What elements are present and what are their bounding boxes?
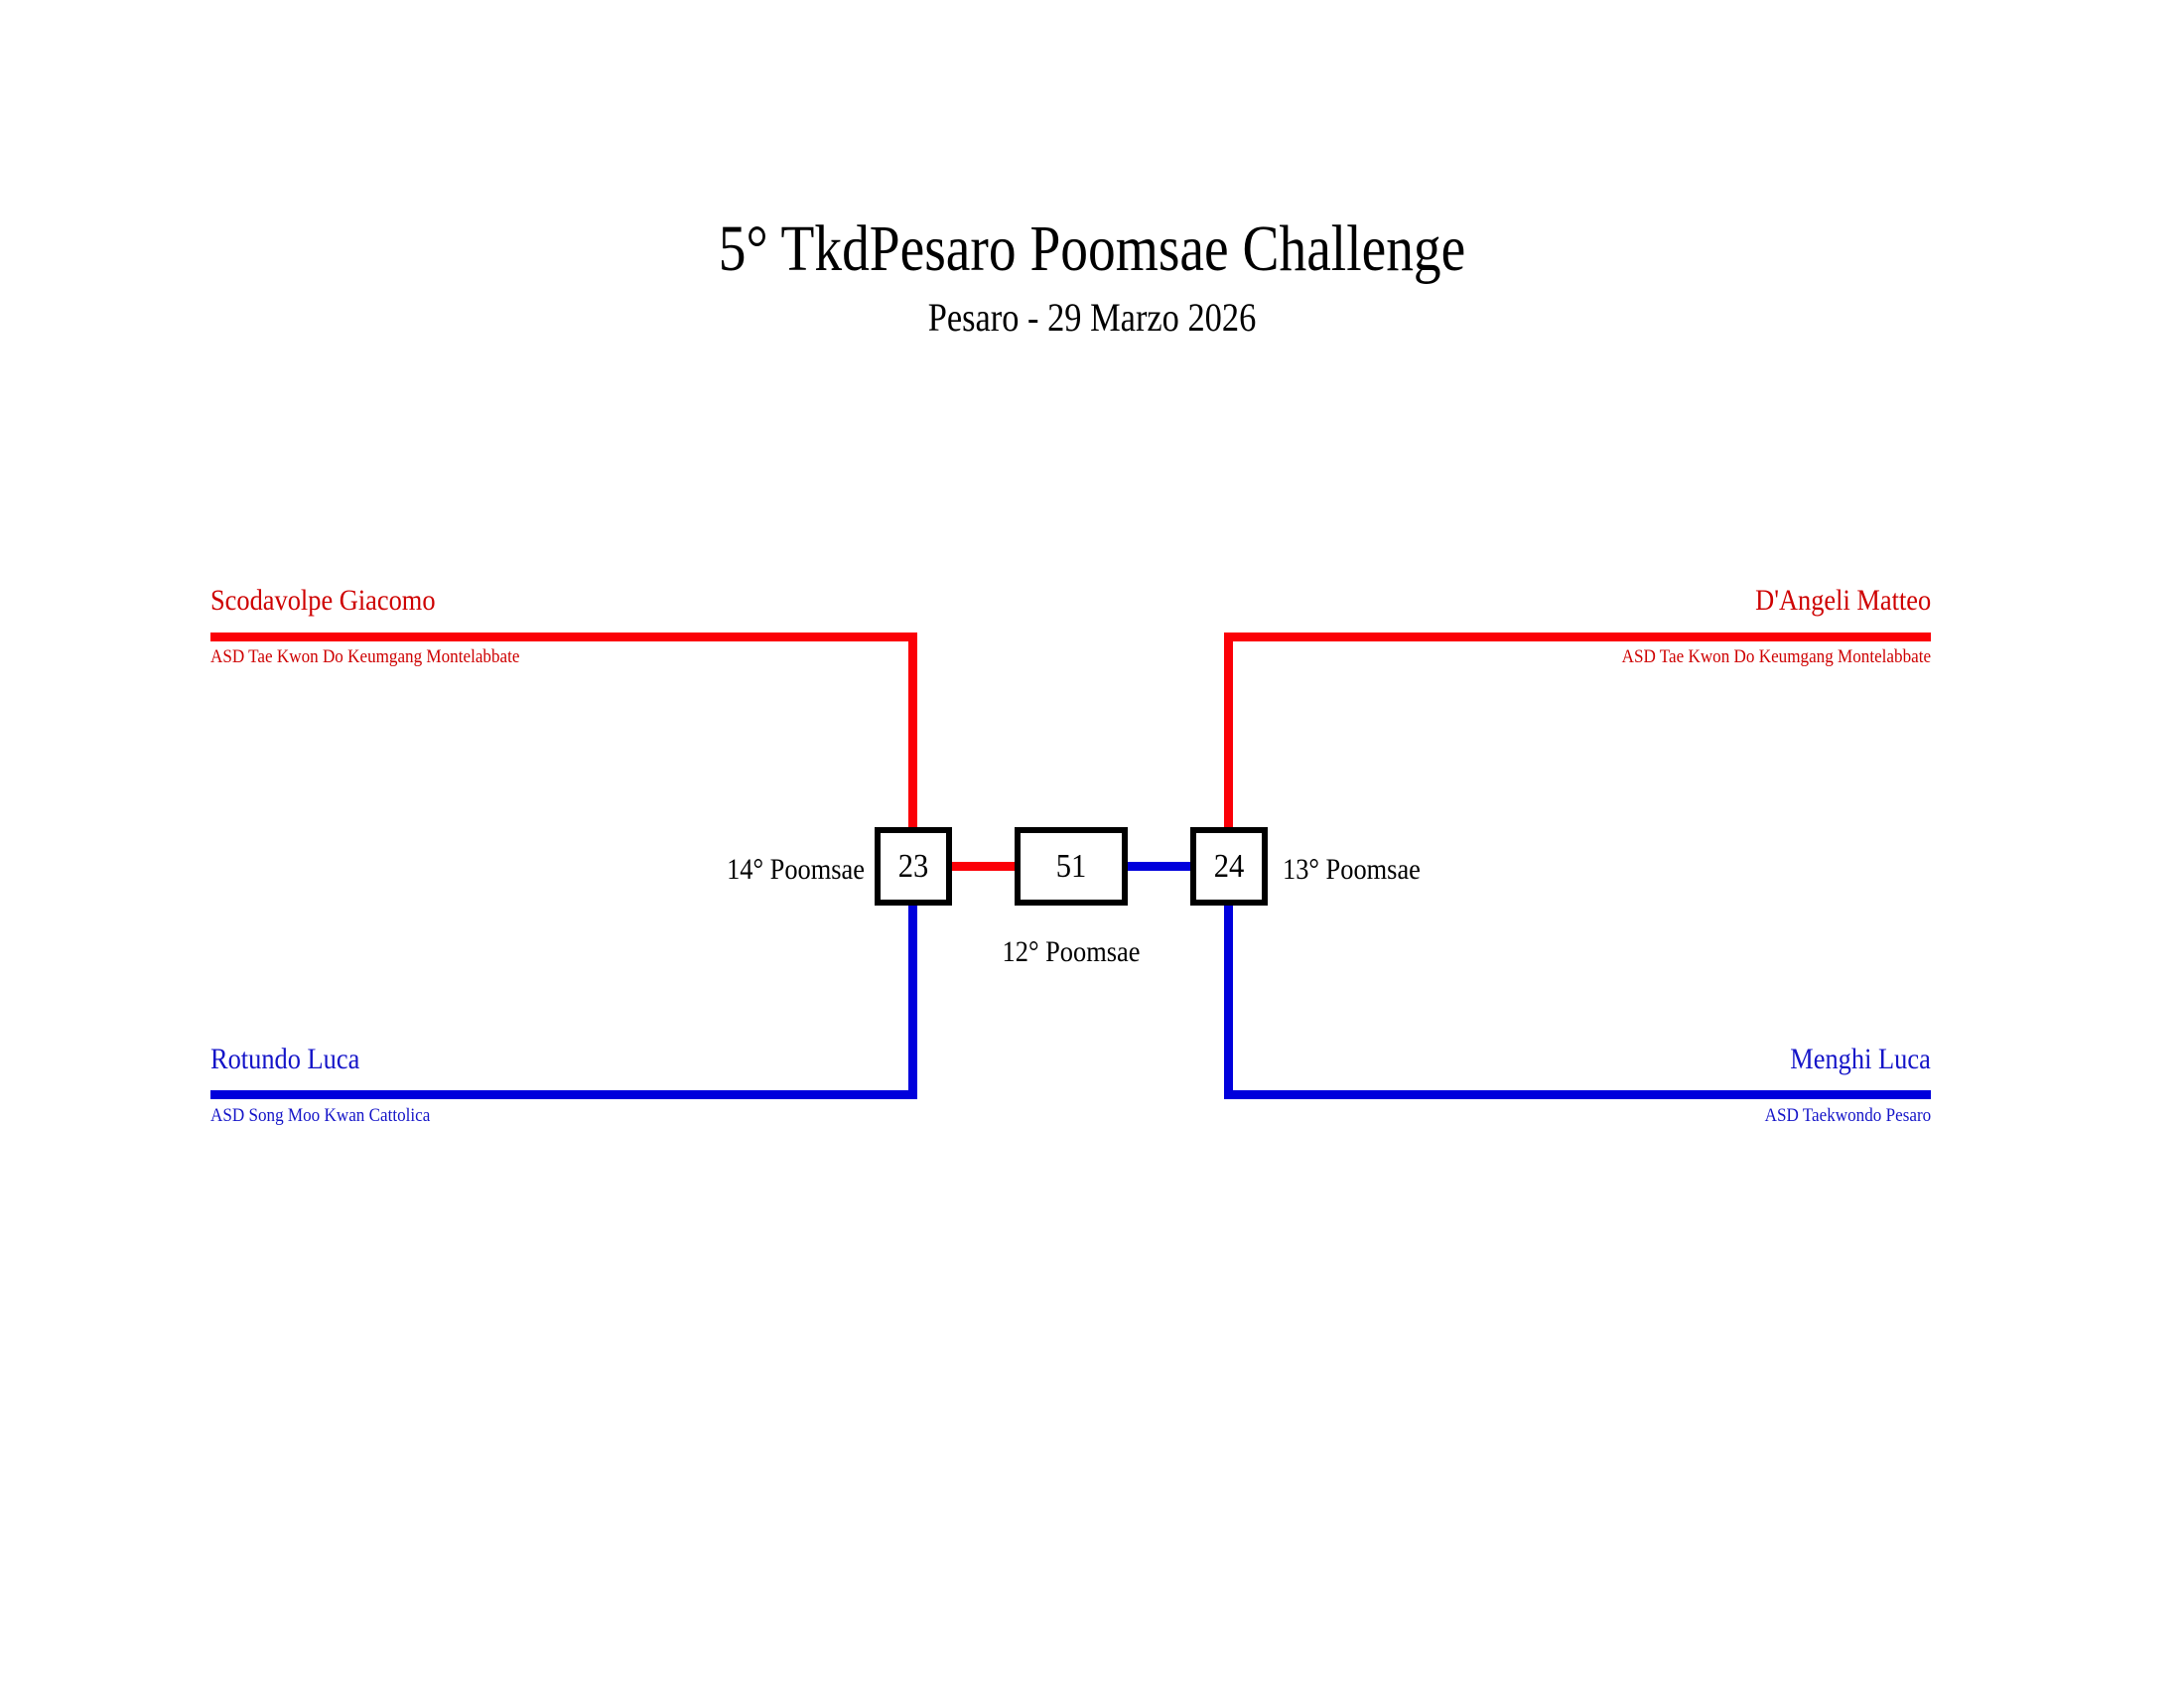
competitor-club-bottom-left: ASD Song Moo Kwan Cattolica: [210, 1106, 430, 1125]
match-box-right-semifinal[interactable]: 24: [1190, 827, 1268, 906]
bracket-line-bottom-right-vertical: [1224, 902, 1233, 1099]
bracket-header: 5° TkdPesaro Poomsae Challenge Pesaro - …: [0, 216, 2184, 338]
event-subtitle: Pesaro - 29 Marzo 2026: [153, 298, 2031, 338]
bracket-line-top-left-horizontal: [210, 633, 917, 641]
match-box-final[interactable]: 51: [1015, 827, 1128, 906]
competitor-name-top-right: D'Angeli Matteo: [1755, 586, 1931, 616]
competitor-club-top-right: ASD Tae Kwon Do Keumgang Montelabbate: [1622, 647, 1931, 666]
bracket-line-bottom-right-horizontal: [1224, 1090, 1931, 1099]
match-box-left-semifinal[interactable]: 23: [875, 827, 952, 906]
bracket-line-bottom-left-vertical: [908, 902, 917, 1099]
competitor-slot-bottom-left[interactable]: Rotundo Luca ASD Song Moo Kwan Cattolica: [210, 1045, 905, 1134]
bracket-line-top-right-vertical: [1224, 633, 1233, 829]
bracket-line-left-semifinal-to-final: [945, 862, 1021, 871]
page-title: 5° TkdPesaro Poomsae Challenge: [175, 216, 2009, 282]
bracket-root: 5° TkdPesaro Poomsae Challenge Pesaro - …: [0, 0, 2184, 1688]
competitor-club-bottom-right: ASD Taekwondo Pesaro: [1764, 1106, 1931, 1125]
competitor-name-bottom-right: Menghi Luca: [1791, 1045, 1931, 1074]
bracket-line-bottom-left-horizontal: [210, 1090, 917, 1099]
bracket-line-top-right-horizontal: [1224, 633, 1931, 641]
competitor-club-top-left: ASD Tae Kwon Do Keumgang Montelabbate: [210, 647, 519, 666]
competitor-slot-bottom-right[interactable]: Menghi Luca ASD Taekwondo Pesaro: [1236, 1045, 1931, 1134]
match-number-right-semifinal: 24: [1214, 850, 1245, 884]
round-label-left-semifinal: 14° Poomsae: [568, 855, 865, 885]
competitor-slot-top-right[interactable]: D'Angeli Matteo ASD Tae Kwon Do Keumgang…: [1236, 586, 1931, 675]
competitor-slot-top-left[interactable]: Scodavolpe Giacomo ASD Tae Kwon Do Keumg…: [210, 586, 905, 675]
match-number-final: 51: [1056, 850, 1087, 884]
competitor-name-bottom-left: Rotundo Luca: [210, 1045, 359, 1074]
bracket-line-top-left-vertical: [908, 633, 917, 829]
competitor-name-top-left: Scodavolpe Giacomo: [210, 586, 436, 616]
bracket-line-final-to-right-semifinal: [1122, 862, 1197, 871]
round-label-right-semifinal: 13° Poomsae: [1283, 855, 1579, 885]
round-label-final: 12° Poomsae: [922, 937, 1219, 967]
match-number-left-semifinal: 23: [898, 850, 929, 884]
